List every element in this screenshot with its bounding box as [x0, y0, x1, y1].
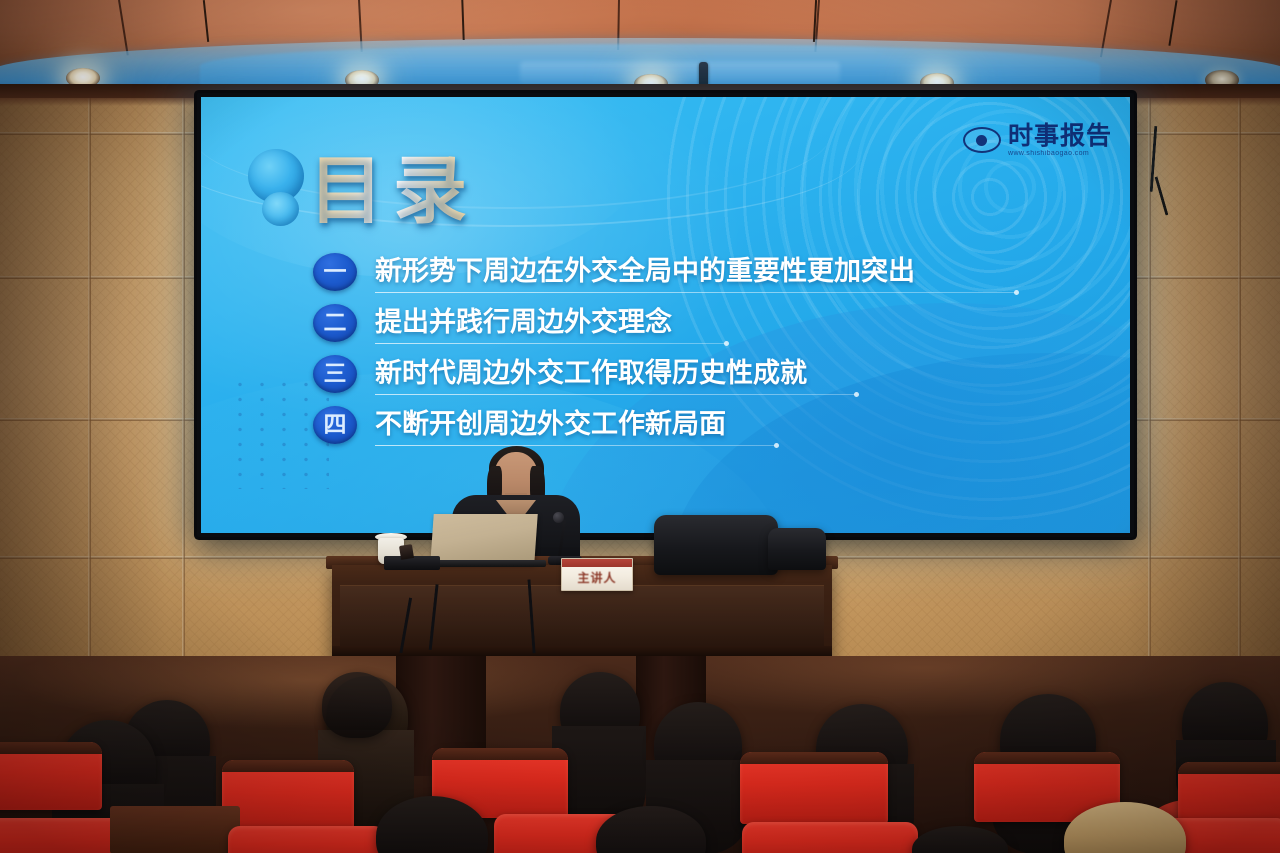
list-item-badge: 一 [313, 253, 357, 291]
desk-small-object [399, 544, 414, 560]
nameplate-text: 主讲人 [562, 569, 632, 586]
ceiling-reflected-text [520, 62, 840, 84]
seat-top-rail [432, 748, 568, 760]
list-item-label: 提出并践行周边外交理念 [375, 302, 672, 344]
laptop-base [428, 560, 546, 567]
logo-name: 时事报告 [1008, 123, 1112, 148]
list-item-badge: 二 [313, 304, 357, 342]
laptop-screen [430, 514, 537, 564]
slide-canvas: 目录 时事报告 www.shishibaogao.com 一 新形势下周边在外交… [201, 97, 1130, 533]
list-item-badge: 四 [313, 406, 357, 444]
list-item-rule [375, 394, 855, 395]
slide-title: 目录 [309, 131, 477, 238]
list-item: 三 新时代周边外交工作取得历史性成就 [313, 353, 1093, 401]
nameplate-band [562, 559, 632, 567]
slide-toc-list: 一 新形势下周边在外交全局中的重要性更加突出 二 提出并践行周边外交理念 三 新… [313, 251, 1093, 455]
slide-decor-circle-small [262, 192, 299, 226]
auditorium-seat[interactable] [0, 818, 126, 853]
list-item-rule [375, 343, 725, 344]
list-item-badge: 三 [313, 355, 357, 393]
microphone-head [553, 512, 564, 523]
list-item-rule [375, 292, 1015, 293]
chair-empty-side [768, 528, 826, 570]
logo-url: www.shishibaogao.com [1008, 150, 1112, 157]
list-item: 二 提出并践行周边外交理念 [313, 302, 1093, 350]
list-item-label: 不断开创周边外交工作新局面 [375, 404, 726, 446]
seat-top-rail [974, 752, 1120, 764]
auditorium-seat[interactable] [228, 826, 386, 853]
auditorium-seat[interactable] [742, 822, 918, 853]
seat-wood-arm [110, 806, 240, 853]
conference-hall-photo: 目录 时事报告 www.shishibaogao.com 一 新形势下周边在外交… [0, 0, 1280, 853]
seat-top-rail [1178, 762, 1280, 774]
nameplate: 主讲人 [561, 558, 633, 591]
list-item-label: 新形势下周边在外交全局中的重要性更加突出 [375, 251, 915, 293]
chair-empty [654, 515, 778, 575]
audience-head [322, 672, 392, 738]
seat-top-rail [740, 752, 888, 764]
list-item: 一 新形势下周边在外交全局中的重要性更加突出 [313, 251, 1093, 299]
seat-top-rail [0, 742, 102, 754]
led-screen[interactable]: 目录 时事报告 www.shishibaogao.com 一 新形势下周边在外交… [197, 93, 1134, 537]
list-item: 四 不断开创周边外交工作新局面 [313, 404, 1093, 452]
list-item-label: 新时代周边外交工作取得历史性成就 [375, 353, 807, 395]
eye-logo-icon [963, 127, 1001, 153]
slide-logo: 时事报告 www.shishibaogao.com [963, 123, 1112, 157]
list-item-rule [375, 445, 775, 446]
seat-top-rail [222, 760, 354, 772]
